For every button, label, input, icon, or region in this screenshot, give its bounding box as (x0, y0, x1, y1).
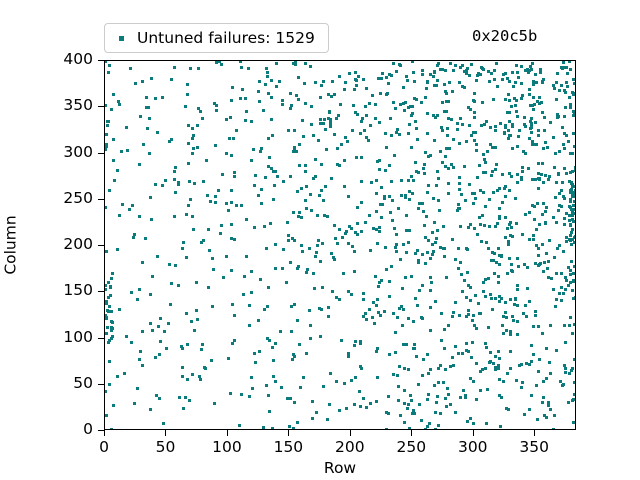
y-tick-mark (98, 106, 104, 107)
legend-box[interactable]: Untuned failures: 1529 (104, 23, 329, 53)
scatter-figure: 050100150200250300350400 050100150200250… (0, 0, 640, 480)
y-tick-mark (98, 199, 104, 200)
y-tick-label: 350 (55, 96, 93, 114)
corner-annotation: 0x20c5b (472, 27, 537, 45)
y-tick-mark (98, 153, 104, 154)
x-tick-label: 50 (135, 438, 195, 456)
y-tick-mark (98, 245, 104, 246)
x-axis-label: Row (104, 459, 576, 477)
x-tick-label: 250 (381, 438, 441, 456)
y-axis-label: Column (0, 60, 22, 430)
y-tick-label: 50 (55, 374, 93, 392)
x-tick-label: 200 (320, 438, 380, 456)
x-tick-mark (534, 430, 535, 436)
x-tick-mark (473, 430, 474, 436)
scatter-points-layer (105, 61, 575, 429)
y-tick-label: 150 (55, 281, 93, 299)
y-tick-label: 200 (55, 235, 93, 253)
y-tick-mark (98, 384, 104, 385)
y-tick-mark (98, 60, 104, 61)
y-tick-label: 100 (55, 328, 93, 346)
y-axis-label-text: Column (2, 215, 20, 274)
square-marker-icon (119, 36, 124, 41)
plot-area (104, 60, 576, 430)
x-tick-mark (165, 430, 166, 436)
y-tick-label: 400 (55, 50, 93, 68)
x-tick-label: 150 (258, 438, 318, 456)
x-tick-label: 350 (504, 438, 564, 456)
x-tick-label: 100 (197, 438, 257, 456)
x-tick-mark (411, 430, 412, 436)
y-tick-label: 250 (55, 189, 93, 207)
x-tick-mark (104, 430, 105, 436)
y-tick-label: 300 (55, 143, 93, 161)
x-tick-mark (288, 430, 289, 436)
x-tick-mark (227, 430, 228, 436)
x-tick-label: 0 (74, 438, 134, 456)
y-tick-label: 0 (55, 420, 93, 438)
x-tick-mark (350, 430, 351, 436)
y-tick-mark (98, 338, 104, 339)
legend-label: Untuned failures: 1529 (137, 29, 319, 47)
x-tick-label: 300 (443, 438, 503, 456)
scatter-series-untuned-failures (105, 61, 576, 430)
y-tick-mark (98, 291, 104, 292)
